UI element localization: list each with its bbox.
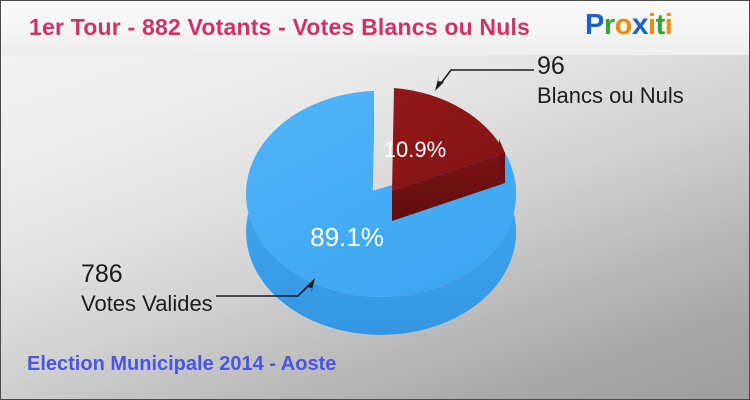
- callout-valides-label: Votes Valides: [81, 289, 213, 319]
- callout-blancs-label: Blancs ou Nuls: [537, 81, 684, 111]
- callout-votes-valides: 786 Votes Valides: [81, 259, 213, 319]
- callout-blancs-value: 96: [537, 51, 684, 81]
- callout-valides-value: 786: [81, 259, 213, 289]
- chart-container: 1er Tour - 882 Votants - Votes Blancs ou…: [0, 0, 750, 400]
- footer-caption: Election Municipale 2014 - Aoste: [27, 353, 336, 376]
- callout-blancs-ou-nuls: 96 Blancs ou Nuls: [537, 51, 684, 111]
- callout-leader-blancs: [435, 70, 534, 91]
- pie-label-votes-valides: 89.1%: [310, 222, 384, 252]
- pie-label-blancs-ou-nuls: 10.9%: [384, 137, 446, 162]
